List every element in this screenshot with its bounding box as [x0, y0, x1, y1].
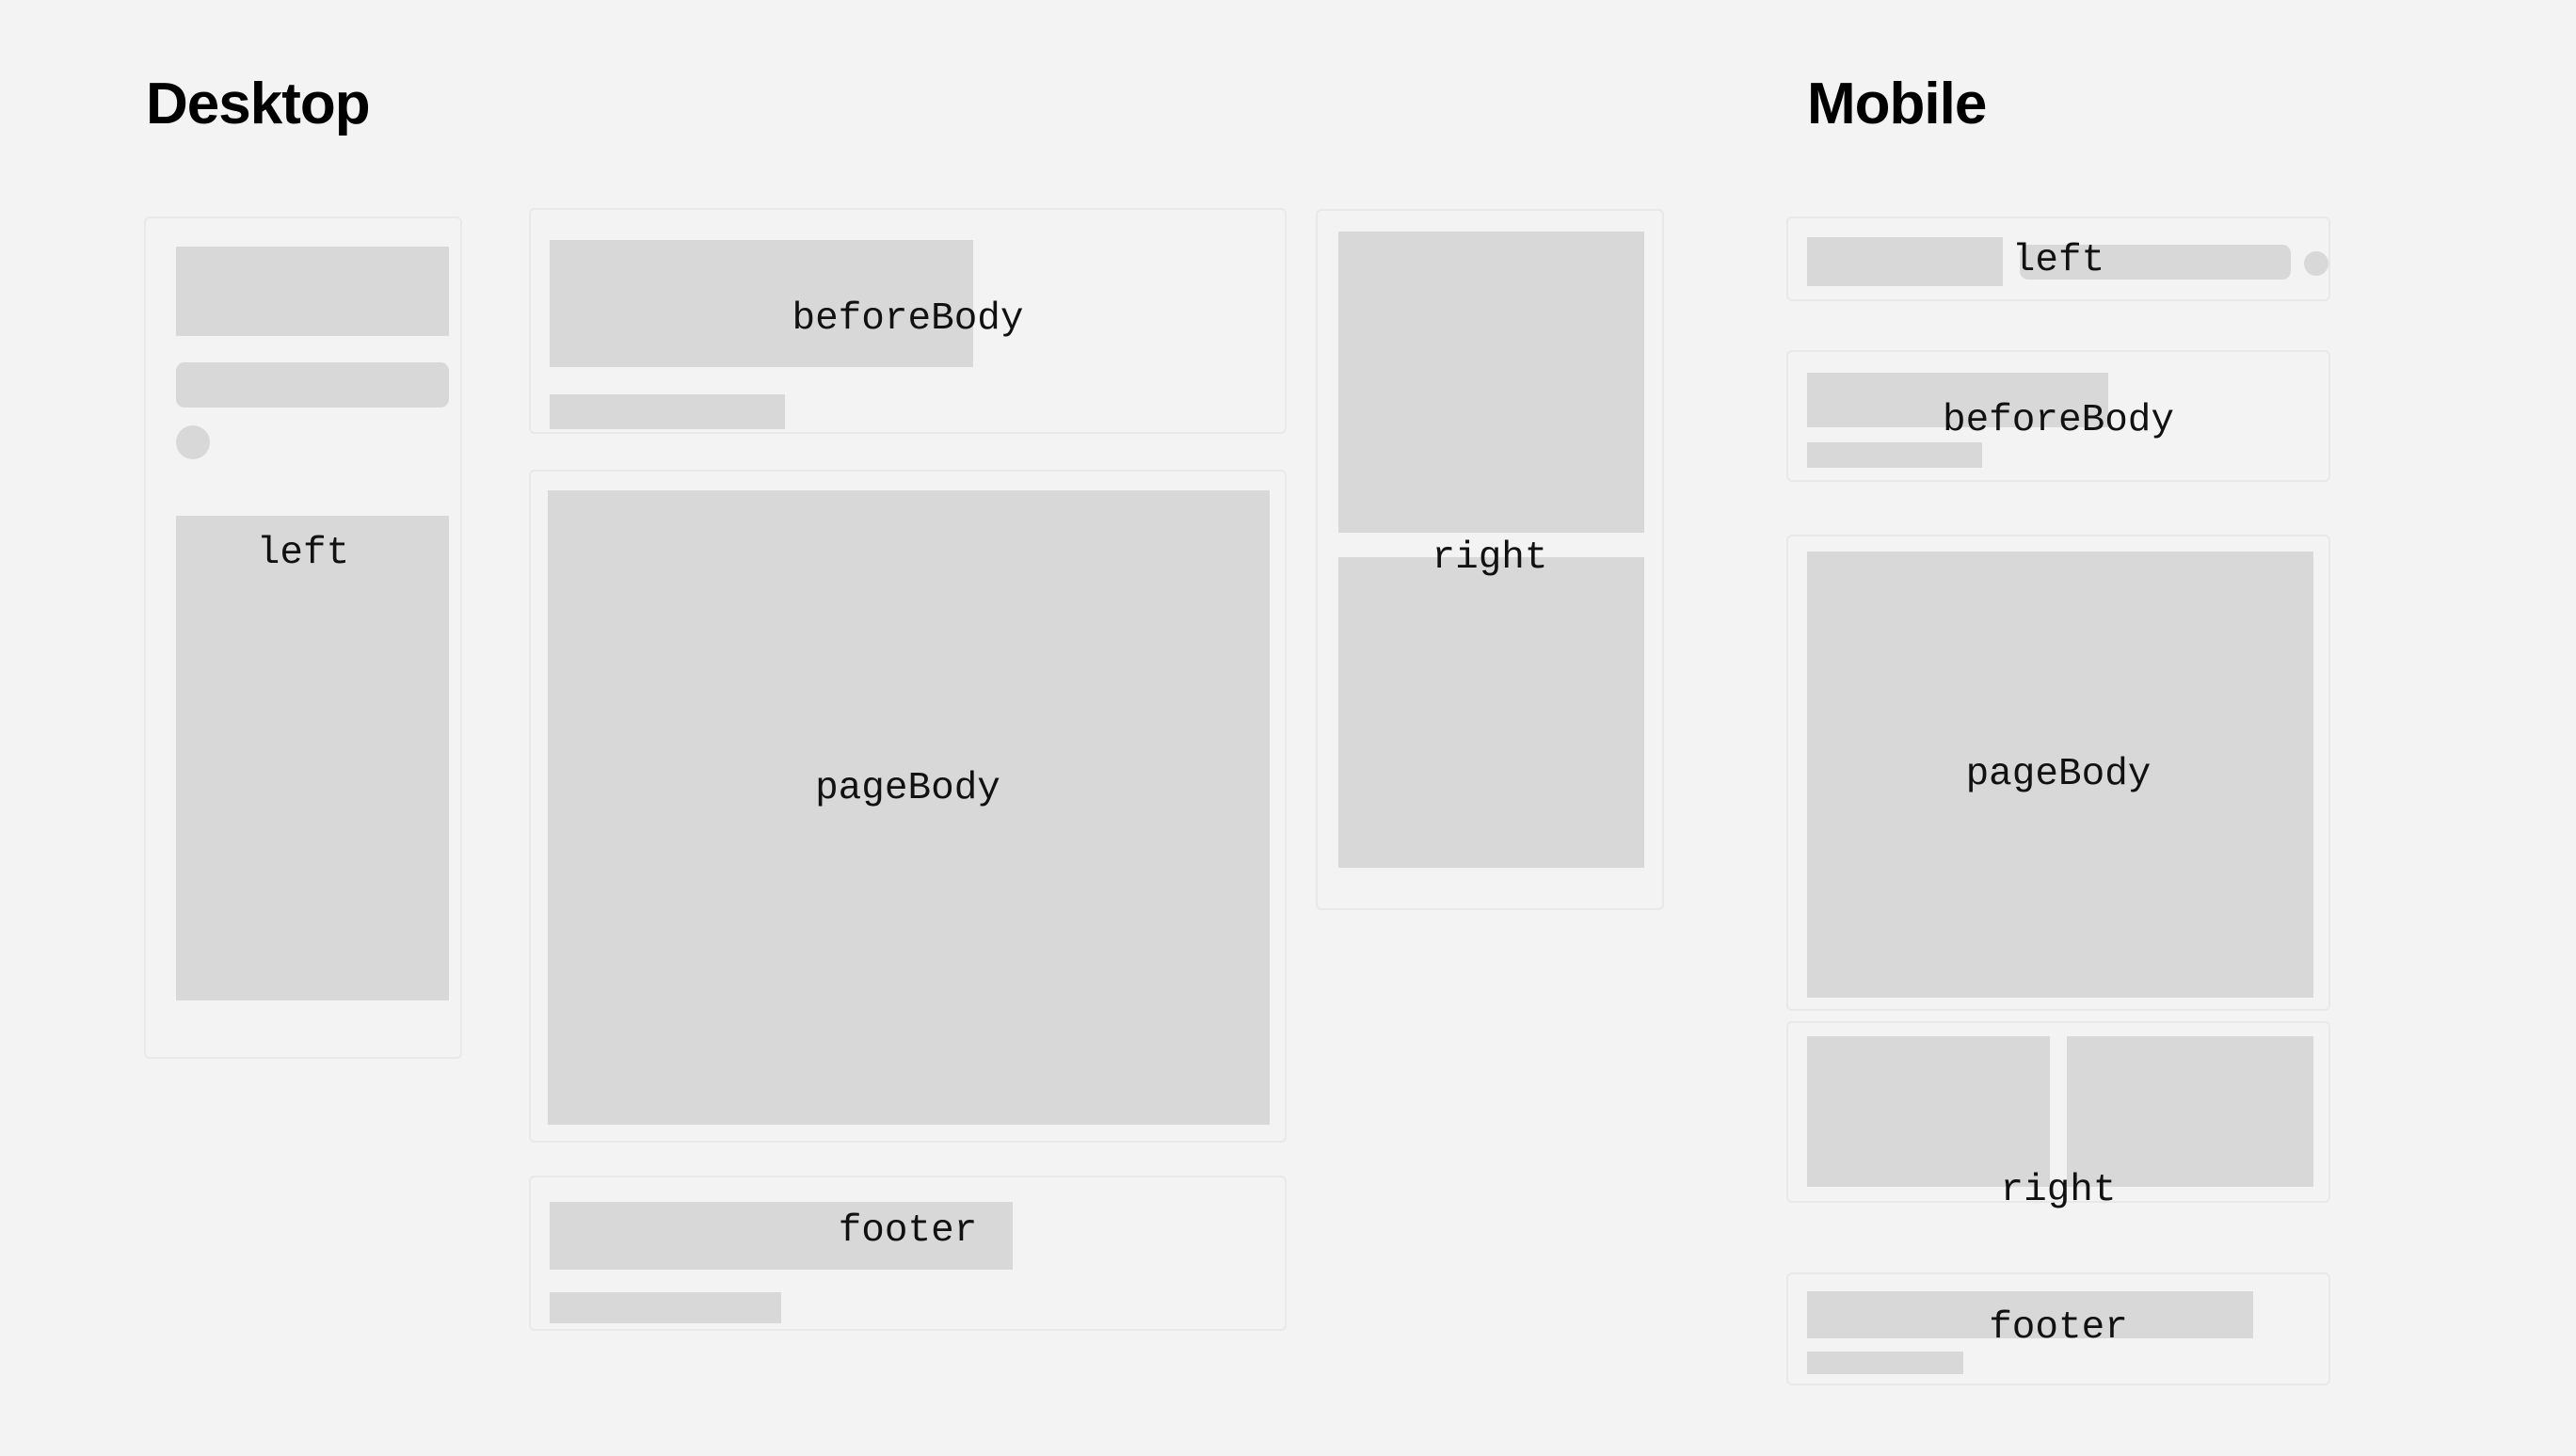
- placeholder-bar: [1807, 1291, 2253, 1338]
- mobile-slot-right-panel[interactable]: [1786, 1021, 2330, 1203]
- placeholder-block-large: [548, 490, 1270, 1125]
- placeholder-block: [2067, 1036, 2313, 1187]
- desktop-slot-right-panel[interactable]: [1316, 209, 1664, 910]
- desktop-slot-left-panel[interactable]: [144, 216, 462, 1059]
- placeholder-avatar-circle: [176, 425, 210, 459]
- placeholder-block: [1338, 232, 1644, 533]
- mobile-slot-footer-panel[interactable]: [1786, 1272, 2330, 1385]
- layout-preview-canvas: Desktop Mobile left beforeBody pageBody …: [0, 0, 2576, 1456]
- placeholder-bar: [550, 394, 785, 429]
- desktop-slot-pagebody-panel[interactable]: [529, 470, 1287, 1143]
- placeholder-bar: [2020, 245, 2291, 280]
- mobile-slot-left-panel[interactable]: [1786, 216, 2330, 301]
- placeholder-bar: [550, 1292, 781, 1323]
- placeholder-block: [1807, 1036, 2050, 1187]
- placeholder-bar: [1807, 442, 1982, 468]
- desktop-section-title: Desktop: [146, 75, 370, 134]
- mobile-slot-beforebody-panel[interactable]: [1786, 350, 2330, 482]
- desktop-slot-footer-panel[interactable]: [529, 1176, 1287, 1331]
- placeholder-block: [1807, 237, 2003, 286]
- placeholder-block-large: [1807, 552, 2313, 998]
- desktop-slot-beforebody-panel[interactable]: [529, 208, 1287, 434]
- placeholder-block: [176, 247, 449, 336]
- placeholder-bar: [1807, 1352, 1963, 1374]
- placeholder-block: [550, 240, 973, 367]
- placeholder-bar: [176, 362, 449, 408]
- placeholder-avatar-circle: [2304, 251, 2328, 276]
- placeholder-block-tall: [176, 516, 449, 1000]
- placeholder-block: [1338, 557, 1644, 868]
- mobile-slot-pagebody-panel[interactable]: [1786, 535, 2330, 1011]
- placeholder-bar: [550, 1202, 1013, 1270]
- placeholder-block: [1807, 373, 2108, 427]
- mobile-section-title: Mobile: [1807, 75, 1986, 134]
